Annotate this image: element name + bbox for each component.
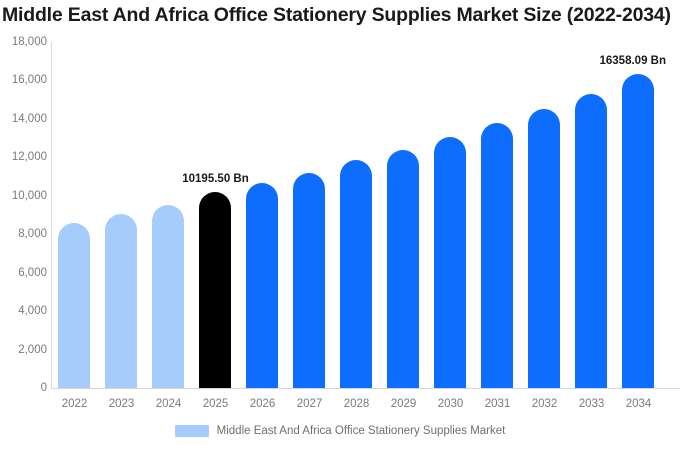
bar-slot — [474, 42, 521, 388]
bar-2029[interactable] — [387, 150, 419, 388]
chart-container: Middle East And Africa Office Stationery… — [0, 0, 680, 450]
bar-series: 10195.50 Bn16358.09 Bn — [51, 42, 680, 388]
bar-slot — [51, 42, 98, 388]
y-axis-tick-label: 8,000 — [3, 228, 47, 240]
bar-slot — [521, 42, 568, 388]
x-axis-tick-label: 2028 — [333, 398, 380, 410]
y-axis-tick-label: 6,000 — [3, 267, 47, 279]
bar-2034[interactable] — [622, 74, 654, 388]
y-axis-ticks: 18,00016,00014,00012,00010,0008,0006,000… — [0, 0, 47, 450]
bar-slot — [333, 42, 380, 388]
legend-label: Middle East And Africa Office Stationery… — [217, 425, 506, 437]
bar-2024[interactable] — [152, 205, 184, 388]
bar-slot — [145, 42, 192, 388]
x-axis-tick-label: 2029 — [380, 398, 427, 410]
bar-slot — [98, 42, 145, 388]
x-axis-tick-label: 2025 — [192, 398, 239, 410]
bar-2026[interactable] — [246, 183, 278, 388]
x-axis-line — [51, 388, 680, 389]
bar-2028[interactable] — [340, 160, 372, 388]
x-axis-tick-label: 2022 — [51, 398, 98, 410]
chart-legend: Middle East And Africa Office Stationery… — [0, 425, 680, 437]
bar-value-label: 16358.09 Bn — [600, 55, 667, 67]
bar-2030[interactable] — [434, 137, 466, 388]
bar-slot: 10195.50 Bn — [192, 42, 239, 388]
y-axis-tick-label: 4,000 — [3, 305, 47, 317]
bar-slot: 16358.09 Bn — [615, 42, 662, 388]
bar-2027[interactable] — [293, 173, 325, 388]
bar-2031[interactable] — [481, 123, 513, 388]
y-axis-tick-label: 14,000 — [3, 113, 47, 125]
x-axis-tick-label: 2034 — [615, 398, 662, 410]
x-axis-tick-label: 2033 — [568, 398, 615, 410]
x-axis-tick-label: 2032 — [521, 398, 568, 410]
x-axis-tick-label: 2027 — [286, 398, 333, 410]
x-axis-tick-label: 2023 — [98, 398, 145, 410]
bar-2022[interactable] — [58, 223, 90, 388]
bar-slot — [286, 42, 333, 388]
y-axis-tick-label: 16,000 — [3, 74, 47, 86]
x-axis-tick-label: 2024 — [145, 398, 192, 410]
bar-slot — [239, 42, 286, 388]
x-axis-ticks: 2022202320242025202620272028202920302031… — [51, 398, 680, 418]
y-axis-tick-label: 12,000 — [3, 151, 47, 163]
bar-2025[interactable] — [199, 192, 231, 388]
y-axis-tick-label: 2,000 — [3, 344, 47, 356]
legend-swatch — [175, 425, 209, 437]
bar-slot — [568, 42, 615, 388]
x-axis-tick-label: 2030 — [427, 398, 474, 410]
bar-2033[interactable] — [575, 94, 607, 388]
chart-title: Middle East And Africa Office Stationery… — [2, 4, 671, 27]
bar-slot — [427, 42, 474, 388]
y-axis-tick-label: 10,000 — [3, 190, 47, 202]
bar-2032[interactable] — [528, 109, 560, 388]
bar-2023[interactable] — [105, 214, 137, 388]
x-axis-tick-label: 2026 — [239, 398, 286, 410]
x-axis-tick-label: 2031 — [474, 398, 521, 410]
y-axis-tick-label: 18,000 — [3, 36, 47, 48]
bar-slot — [380, 42, 427, 388]
y-axis-tick-label: 0 — [3, 382, 47, 394]
